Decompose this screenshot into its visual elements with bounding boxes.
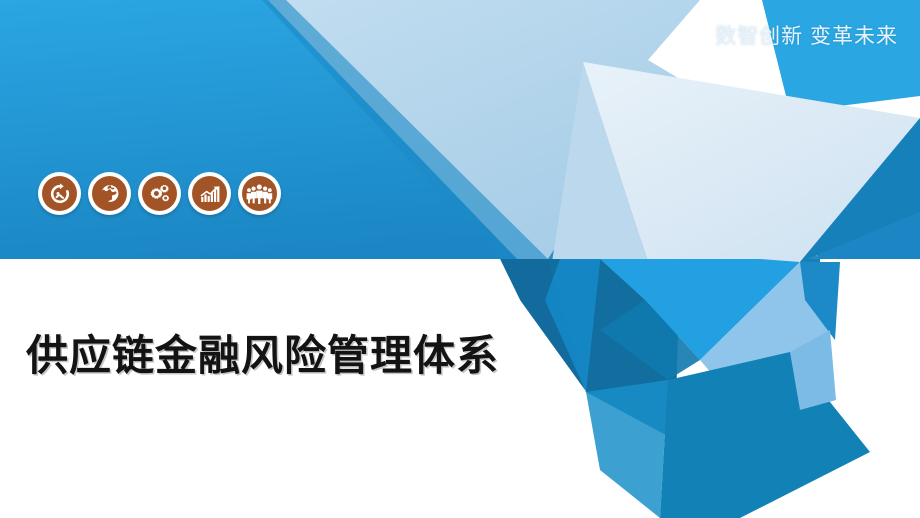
- icon-badge-bar-chart[interactable]: [188, 172, 231, 215]
- page-title: 供应链金融风险管理体系: [26, 322, 499, 383]
- slide-canvas: 数智创新 变革未来: [0, 0, 920, 518]
- icon-badge-gears[interactable]: [138, 172, 181, 215]
- gears-icon: [142, 176, 177, 211]
- bar-chart-icon: [192, 176, 227, 211]
- globe-icon: [92, 176, 127, 211]
- icon-badge-globe[interactable]: [88, 172, 131, 215]
- background-polygon-artwork: [0, 0, 920, 518]
- slide-tagline: 数智创新 变革未来: [715, 26, 898, 47]
- icon-badge-people-group[interactable]: [238, 172, 281, 215]
- feature-icon-row: [38, 172, 281, 215]
- icon-badge-recycle-arrows[interactable]: [38, 172, 81, 215]
- recycle-arrows-icon: [42, 176, 77, 211]
- people-group-icon: [242, 176, 277, 211]
